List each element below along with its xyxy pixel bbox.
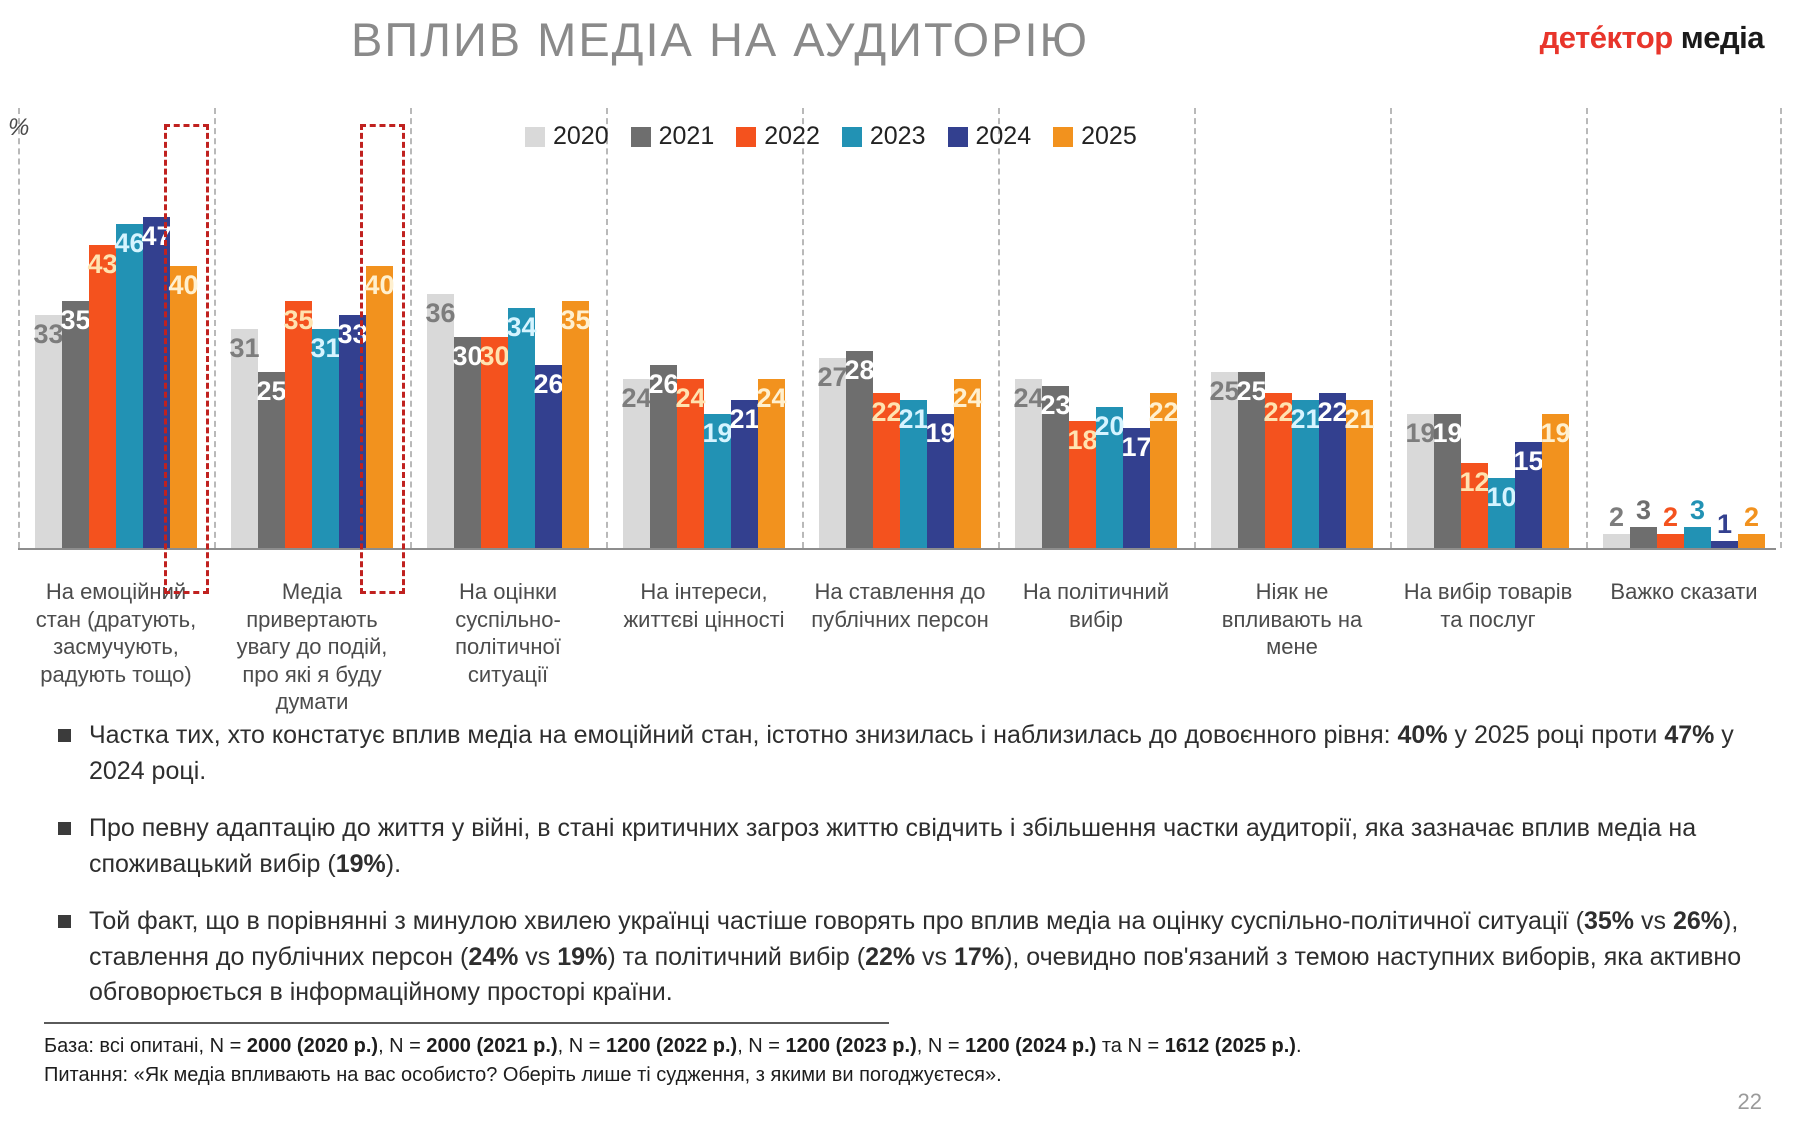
bar-value-label: 2	[1663, 502, 1678, 533]
bar-rect: 36	[427, 294, 454, 548]
bar-value-label: 34	[506, 312, 536, 343]
bar-rect: 19	[1407, 414, 1434, 548]
bar-2021-1[interactable]: 25	[258, 372, 285, 548]
bullet-marker-icon	[58, 729, 71, 742]
category-label-5: На політичний вибір	[998, 578, 1194, 716]
bullet-text: Частка тих, хто констатує вплив медіа на…	[89, 718, 1758, 789]
bar-rect: 24	[1015, 379, 1042, 548]
bar-rect: 27	[819, 358, 846, 548]
bar-2021-3[interactable]: 26	[650, 365, 677, 548]
legend-swatch-2023	[842, 127, 862, 147]
legend-label-2020: 2020	[553, 122, 609, 151]
category-label-8: Важко сказати	[1586, 578, 1782, 716]
bar-value-label: 28	[844, 355, 874, 386]
bar-2020-7[interactable]: 19	[1407, 414, 1434, 548]
bar-value-label: 1	[1717, 509, 1732, 540]
bar-2024-6[interactable]: 22	[1319, 393, 1346, 548]
bar-value-label: 19	[925, 418, 955, 449]
bar-2023-4[interactable]: 21	[900, 400, 927, 548]
bar-value-label: 21	[729, 404, 759, 435]
insight-bullets: Частка тих, хто констатує вплив медіа на…	[58, 718, 1758, 1033]
bar-rect: 30	[481, 337, 508, 549]
bar-2020-2[interactable]: 36	[427, 294, 454, 548]
bar-rect: 22	[1265, 393, 1292, 548]
bar-rect: 21	[900, 400, 927, 548]
bar-2022-3[interactable]: 24	[677, 379, 704, 548]
bar-rect: 35	[62, 301, 89, 548]
bar-rect: 18	[1069, 421, 1096, 548]
bar-2024-3[interactable]: 21	[731, 400, 758, 548]
bar-2020-6[interactable]: 25	[1211, 372, 1238, 548]
legend-item-2023[interactable]: 2023	[842, 122, 926, 151]
legend-label-2025: 2025	[1081, 122, 1137, 151]
bar-2024-4[interactable]: 19	[927, 414, 954, 548]
bar-rect: 22	[873, 393, 900, 548]
bar-value-label: 22	[871, 397, 901, 428]
bar-2025-6[interactable]: 21	[1346, 400, 1373, 548]
bar-rect: 10	[1488, 478, 1515, 549]
bar-2021-6[interactable]: 25	[1238, 372, 1265, 548]
legend-label-2023: 2023	[870, 122, 926, 151]
bar-2020-4[interactable]: 27	[819, 358, 846, 548]
bar-value-label: 12	[1459, 467, 1489, 498]
bar-value-label: 24	[621, 383, 651, 414]
brand-logo-first: дете́ктор	[1540, 20, 1673, 55]
bullet-item-0: Частка тих, хто констатує вплив медіа на…	[58, 718, 1758, 789]
chart-legend: 202020212022202320242025	[525, 122, 1137, 151]
bar-2023-0[interactable]: 46	[116, 224, 143, 548]
legend-swatch-2020	[525, 127, 545, 147]
bar-value-label: 26	[533, 369, 563, 400]
page-number: 22	[1738, 1089, 1762, 1115]
bar-value-label: 3	[1636, 495, 1651, 526]
bar-rect: 24	[677, 379, 704, 548]
bar-rect: 2	[1603, 534, 1630, 548]
bar-value-label: 18	[1067, 425, 1097, 456]
bar-2023-3[interactable]: 19	[704, 414, 731, 548]
bar-rect: 21	[731, 400, 758, 548]
bar-rect: 33	[339, 315, 366, 548]
bar-rect: 35	[285, 301, 312, 548]
bar-value-label: 30	[452, 341, 482, 372]
bullet-marker-icon	[58, 822, 71, 835]
legend-swatch-2021	[631, 127, 651, 147]
bar-2022-7[interactable]: 12	[1461, 463, 1488, 548]
category-label-2: На оцінки суспільно-політичної ситуації	[410, 578, 606, 716]
category-label-3: На інтереси, життєві цінності	[606, 578, 802, 716]
page-title: ВПЛИВ МЕДІА НА АУДИТОРІЮ	[0, 12, 1440, 67]
bar-2021-4[interactable]: 28	[846, 351, 873, 548]
bar-value-label: 19	[702, 418, 732, 449]
bar-value-label: 26	[648, 369, 678, 400]
brand-logo-second: медіа	[1681, 20, 1764, 55]
bar-rect: 47	[143, 217, 170, 548]
legend-item-2025[interactable]: 2025	[1053, 122, 1137, 151]
bar-2024-2[interactable]: 26	[535, 365, 562, 548]
bar-group-6: 252522212221	[1194, 108, 1390, 548]
bar-rect: 28	[846, 351, 873, 548]
bar-group-4: 272822211924	[802, 108, 998, 548]
bar-2022-4[interactable]: 22	[873, 393, 900, 548]
bar-rect: 40	[170, 266, 197, 548]
category-labels: На емоційний стан (дратують, засмучують,…	[18, 578, 1782, 716]
bar-value-label: 2	[1609, 502, 1624, 533]
legend-label-2024: 2024	[976, 122, 1032, 151]
bar-value-label: 30	[479, 341, 509, 372]
bar-2021-0[interactable]: 35	[62, 301, 89, 548]
bar-2022-8[interactable]: 2	[1657, 534, 1684, 548]
bar-rect: 31	[312, 329, 339, 548]
bar-2023-1[interactable]: 31	[312, 329, 339, 548]
bar-rect: 2	[1738, 534, 1765, 548]
bar-value-label: 17	[1121, 432, 1151, 463]
bar-group-2: 363030342635	[410, 108, 606, 548]
bar-2021-7[interactable]: 19	[1434, 414, 1461, 548]
bar-group-8: 232312	[1586, 108, 1782, 548]
bar-value-label: 40	[364, 270, 394, 301]
bar-rect: 17	[1123, 428, 1150, 548]
bar-rect: 40	[366, 266, 393, 548]
bar-2022-2[interactable]: 30	[481, 337, 508, 549]
bar-rect: 3	[1630, 527, 1657, 548]
bar-rect: 24	[954, 379, 981, 548]
bar-value-label: 2	[1744, 502, 1759, 533]
bar-value-label: 47	[141, 221, 171, 252]
bar-rect: 19	[927, 414, 954, 548]
legend-label-2021: 2021	[659, 122, 715, 151]
bar-2025-2[interactable]: 35	[562, 301, 589, 548]
bar-2021-2[interactable]: 30	[454, 337, 481, 549]
bar-value-label: 21	[898, 404, 928, 435]
footer-question-line: Питання: «Як медіа впливають на вас особ…	[44, 1061, 1704, 1090]
bar-2025-7[interactable]: 19	[1542, 414, 1569, 548]
bar-rect: 23	[1042, 386, 1069, 548]
bar-2023-2[interactable]: 34	[508, 308, 535, 548]
bar-value-label: 36	[425, 298, 455, 329]
bar-value-label: 33	[337, 319, 367, 350]
bar-rect: 34	[508, 308, 535, 548]
bar-rect: 25	[258, 372, 285, 548]
bar-group-1: 312535313340	[214, 108, 410, 548]
bar-2024-0[interactable]: 47	[143, 217, 170, 548]
category-label-4: На ставлення до публічних персон	[802, 578, 998, 716]
bar-value-label: 25	[1209, 376, 1239, 407]
category-label-1: Медіа привертають увагу до подій, про як…	[214, 578, 410, 716]
x-axis-line	[18, 548, 1776, 550]
bar-rect: 19	[1542, 414, 1569, 548]
bar-2025-3[interactable]: 24	[758, 379, 785, 548]
bar-2020-1[interactable]: 31	[231, 329, 258, 548]
bar-2022-6[interactable]: 22	[1265, 393, 1292, 548]
bar-value-label: 19	[1405, 418, 1435, 449]
bar-value-label: 27	[817, 362, 847, 393]
bar-rect: 21	[1346, 400, 1373, 548]
legend-swatch-2024	[948, 127, 968, 147]
bar-value-label: 33	[33, 319, 63, 350]
bar-rect: 35	[562, 301, 589, 548]
bar-value-label: 22	[1148, 397, 1178, 428]
bar-value-label: 25	[1236, 376, 1266, 407]
bar-rect: 2	[1657, 534, 1684, 548]
bar-value-label: 35	[60, 305, 90, 336]
bar-group-3: 242624192124	[606, 108, 802, 548]
bar-rect: 19	[704, 414, 731, 548]
bar-rect: 30	[454, 337, 481, 549]
bar-rect: 46	[116, 224, 143, 548]
footer-divider	[44, 1022, 889, 1024]
bar-value-label: 21	[1344, 404, 1374, 435]
bar-rect: 26	[535, 365, 562, 548]
bar-value-label: 24	[952, 383, 982, 414]
bar-value-label: 22	[1317, 397, 1347, 428]
bullet-text: Про певну адаптацію до життя у війні, в …	[89, 811, 1758, 882]
bar-2024-1[interactable]: 33	[339, 315, 366, 548]
bar-2023-5[interactable]: 20	[1096, 407, 1123, 548]
bar-rect: 1	[1711, 541, 1738, 548]
bar-value-label: 25	[256, 376, 286, 407]
bar-value-label: 31	[229, 333, 259, 364]
bar-2024-8[interactable]: 1	[1711, 541, 1738, 548]
bar-2020-0[interactable]: 33	[35, 315, 62, 548]
bar-value-label: 3	[1690, 495, 1705, 526]
bar-2025-1[interactable]: 40	[366, 266, 393, 548]
bar-value-label: 20	[1094, 411, 1124, 442]
bar-2023-8[interactable]: 3	[1684, 527, 1711, 548]
bullet-text: Той факт, що в порівнянні з минулою хвил…	[89, 904, 1758, 1011]
bar-value-label: 15	[1513, 446, 1543, 477]
brand-logo: дете́ктор медіа	[1540, 20, 1764, 56]
bar-rect: 22	[1150, 393, 1177, 548]
slide-header: ВПЛИВ МЕДІА НА АУДИТОРІЮ дете́ктор медіа	[0, 0, 1800, 95]
bar-2022-1[interactable]: 35	[285, 301, 312, 548]
bar-2020-5[interactable]: 24	[1015, 379, 1042, 548]
bar-value-label: 24	[675, 383, 705, 414]
bar-2020-8[interactable]: 2	[1603, 534, 1630, 548]
bar-rect: 21	[1292, 400, 1319, 548]
bar-2022-0[interactable]: 43	[89, 245, 116, 548]
bar-rect: 26	[650, 365, 677, 548]
legend-item-2024[interactable]: 2024	[948, 122, 1032, 151]
bar-rect: 15	[1515, 442, 1542, 548]
bullet-marker-icon	[58, 915, 71, 928]
bar-group-5: 242318201722	[998, 108, 1194, 548]
bar-value-label: 24	[1013, 383, 1043, 414]
category-label-6: Ніяк не впливають на мене	[1194, 578, 1390, 716]
bar-value-label: 31	[310, 333, 340, 364]
bar-value-label: 46	[114, 228, 144, 259]
bar-rect: 20	[1096, 407, 1123, 548]
bar-2025-4[interactable]: 24	[954, 379, 981, 548]
legend-swatch-2025	[1053, 127, 1073, 147]
bar-2021-5[interactable]: 23	[1042, 386, 1069, 548]
legend-item-2021[interactable]: 2021	[631, 122, 715, 151]
chart-plot-area: 3335434647403125353133403630303426352426…	[18, 108, 1782, 548]
bar-value-label: 10	[1486, 482, 1516, 513]
bar-2023-7[interactable]: 10	[1488, 478, 1515, 549]
bar-value-label: 40	[168, 270, 198, 301]
bar-2022-5[interactable]: 18	[1069, 421, 1096, 548]
bar-2023-6[interactable]: 21	[1292, 400, 1319, 548]
bar-2024-7[interactable]: 15	[1515, 442, 1542, 548]
bullet-item-1: Про певну адаптацію до життя у війні, в …	[58, 811, 1758, 882]
bar-rect: 33	[35, 315, 62, 548]
bar-value-label: 23	[1040, 390, 1070, 421]
legend-swatch-2022	[736, 127, 756, 147]
bar-rect: 24	[623, 379, 650, 548]
bar-2020-3[interactable]: 24	[623, 379, 650, 548]
bar-rect: 31	[231, 329, 258, 548]
bar-rect: 3	[1684, 527, 1711, 548]
bar-2025-8[interactable]: 2	[1738, 534, 1765, 548]
bar-2021-8[interactable]: 3	[1630, 527, 1657, 548]
bar-value-label: 19	[1432, 418, 1462, 449]
bar-value-label: 35	[560, 305, 590, 336]
bar-2025-5[interactable]: 22	[1150, 393, 1177, 548]
bar-rect: 25	[1211, 372, 1238, 548]
category-label-0: На емоційний стан (дратують, засмучують,…	[18, 578, 214, 716]
bar-value-label: 35	[283, 305, 313, 336]
bar-rect: 25	[1238, 372, 1265, 548]
bar-rect: 43	[89, 245, 116, 548]
bar-value-label: 22	[1263, 397, 1293, 428]
bar-value-label: 43	[87, 249, 117, 280]
bar-value-label: 19	[1540, 418, 1570, 449]
bar-rect: 24	[758, 379, 785, 548]
legend-item-2022[interactable]: 2022	[736, 122, 820, 151]
bar-group-0: 333543464740	[18, 108, 214, 548]
category-label-7: На вибір товарів та послуг	[1390, 578, 1586, 716]
bar-chart: % 202020212022202320242025 3335434647403…	[0, 108, 1800, 568]
bar-group-7: 191912101519	[1390, 108, 1586, 548]
bar-value-label: 21	[1290, 404, 1320, 435]
bar-value-label: 24	[756, 383, 786, 414]
legend-item-2020[interactable]: 2020	[525, 122, 609, 151]
legend-label-2022: 2022	[764, 122, 820, 151]
bullet-item-2: Той факт, що в порівнянні з минулою хвил…	[58, 904, 1758, 1011]
bar-rect: 12	[1461, 463, 1488, 548]
bar-2024-5[interactable]: 17	[1123, 428, 1150, 548]
footer-notes: База: всі опитані, N = 2000 (2020 р.), N…	[44, 1032, 1704, 1090]
footer-base-line: База: всі опитані, N = 2000 (2020 р.), N…	[44, 1032, 1704, 1061]
bar-2025-0[interactable]: 40	[170, 266, 197, 548]
bar-rect: 22	[1319, 393, 1346, 548]
bar-rect: 19	[1434, 414, 1461, 548]
